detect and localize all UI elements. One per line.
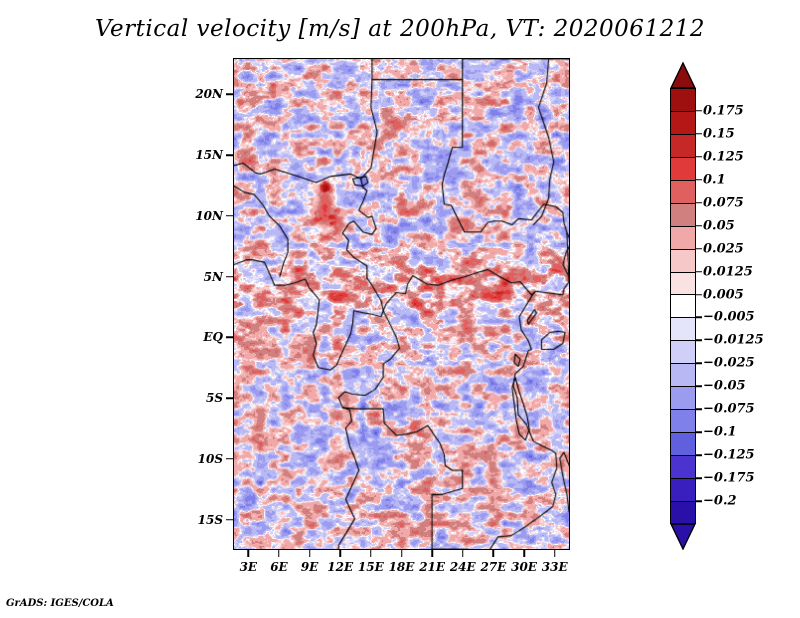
- colorbar-band: [671, 181, 695, 204]
- x-axis-label: 21E: [419, 560, 445, 574]
- colorbar-tick-label: 0.075: [703, 195, 744, 210]
- x-axis-label: 12E: [327, 560, 353, 574]
- colorbar-band: [671, 227, 695, 250]
- colorbar-band: [671, 250, 695, 273]
- y-axis-label: 5N: [185, 270, 223, 284]
- colorbar-band: [671, 204, 695, 227]
- x-axis-tick: [401, 550, 403, 557]
- y-axis-tick: [226, 276, 233, 278]
- colorbar-tick-mark: [696, 179, 702, 181]
- x-axis-tick: [431, 550, 433, 557]
- colorbar-bottom-arrow-icon: [670, 523, 696, 550]
- colorbar-tick-label: 0.05: [703, 218, 735, 233]
- x-axis-tick: [554, 550, 556, 557]
- colorbar-band: [671, 456, 695, 479]
- colorbar-tick-label: 0.15: [703, 126, 735, 141]
- colorbar-tick-mark: [696, 454, 702, 456]
- x-axis-tick: [309, 550, 311, 557]
- x-axis-label: 6E: [270, 560, 288, 574]
- colorbar-band: [671, 273, 695, 296]
- colorbar-band: [671, 135, 695, 158]
- colorbar-band: [671, 479, 695, 502]
- y-axis-tick: [226, 215, 233, 217]
- colorbar-tick-label: 0.125: [703, 149, 744, 164]
- x-axis-label: 3E: [240, 560, 258, 574]
- colorbar-band: [671, 433, 695, 456]
- colorbar-tick-label: 0.175: [703, 103, 744, 118]
- colorbar-tick-mark: [696, 133, 702, 135]
- map-plot-area: [233, 58, 570, 550]
- y-axis-tick: [226, 154, 233, 156]
- colorbar-bands: [670, 88, 696, 524]
- y-axis-label: 5S: [185, 391, 223, 405]
- colorbar-tick-mark: [696, 363, 702, 365]
- y-axis-label: 10N: [185, 209, 223, 223]
- colorbar-band: [671, 158, 695, 181]
- colorbar-tick-label: −0.025: [703, 356, 755, 371]
- colorbar-band: [671, 410, 695, 433]
- colorbar-top-arrow-icon: [670, 62, 696, 89]
- x-axis-label: 27E: [480, 560, 506, 574]
- x-axis-tick: [248, 550, 250, 557]
- x-axis-tick: [462, 550, 464, 557]
- colorbar-tick-mark: [696, 317, 702, 319]
- colorbar-tick-label: −0.005: [703, 310, 755, 325]
- footer-credit: GrADS: IGES/COLA: [6, 598, 114, 609]
- colorbar-tick-mark: [696, 294, 702, 296]
- y-axis-label: EQ: [185, 330, 223, 344]
- y-axis-tick: [226, 94, 233, 96]
- colorbar-tick-label: 0.025: [703, 241, 744, 256]
- colorbar-tick-label: 0.0125: [703, 264, 753, 279]
- x-axis-tick: [493, 550, 495, 557]
- colorbar-tick-mark: [696, 248, 702, 250]
- colorbar-tick-mark: [696, 340, 702, 342]
- colorbar-tick-label: −0.05: [703, 379, 746, 394]
- colorbar-band: [671, 89, 695, 112]
- x-axis-label: 30E: [511, 560, 537, 574]
- y-axis-label: 15S: [185, 513, 223, 527]
- colorbar-tick-mark: [696, 202, 702, 204]
- colorbar-tick-mark: [696, 477, 702, 479]
- colorbar-tick-label: 0.1: [703, 172, 726, 187]
- x-axis-label: 9E: [301, 560, 319, 574]
- x-axis-label: 24E: [450, 560, 476, 574]
- colorbar: 0.1750.150.1250.10.0750.050.0250.01250.0…: [670, 62, 696, 550]
- colorbar-tick-mark: [696, 409, 702, 411]
- page-title: Vertical velocity [m/s] at 200hPa, VT: 2…: [0, 16, 800, 42]
- country-borders-overlay: [234, 59, 569, 549]
- colorbar-band: [671, 364, 695, 387]
- colorbar-tick-label: 0.005: [703, 287, 744, 302]
- colorbar-band: [671, 387, 695, 410]
- colorbar-tick-label: −0.075: [703, 402, 755, 417]
- colorbar-band: [671, 341, 695, 364]
- x-axis-label: 15E: [358, 560, 384, 574]
- x-axis-tick: [523, 550, 525, 557]
- colorbar-tick-mark: [696, 431, 702, 433]
- x-axis-tick: [339, 550, 341, 557]
- y-axis-tick: [226, 337, 233, 339]
- colorbar-tick-label: −0.175: [703, 471, 755, 486]
- colorbar-tick-label: −0.2: [703, 494, 737, 509]
- colorbar-tick-mark: [696, 225, 702, 227]
- y-axis-label: 20N: [185, 87, 223, 101]
- colorbar-tick-label: −0.0125: [703, 333, 764, 348]
- colorbar-band: [671, 112, 695, 135]
- y-axis-tick: [226, 458, 233, 460]
- colorbar-tick-label: −0.1: [703, 425, 737, 440]
- colorbar-band: [671, 502, 695, 525]
- colorbar-band: [671, 295, 695, 318]
- colorbar-tick-mark: [696, 500, 702, 502]
- x-axis-tick: [278, 550, 280, 557]
- x-axis-label: 33E: [542, 560, 568, 574]
- colorbar-tick-mark: [696, 156, 702, 158]
- x-axis-label: 18E: [389, 560, 415, 574]
- colorbar-band: [671, 318, 695, 341]
- colorbar-tick-mark: [696, 271, 702, 273]
- y-axis-label: 10S: [185, 452, 223, 466]
- colorbar-tick-mark: [696, 110, 702, 112]
- y-axis-tick: [226, 397, 233, 399]
- y-axis-tick: [226, 519, 233, 521]
- colorbar-tick-label: −0.125: [703, 448, 755, 463]
- y-axis-label: 15N: [185, 148, 223, 162]
- x-axis-tick: [370, 550, 372, 557]
- colorbar-tick-mark: [696, 386, 702, 388]
